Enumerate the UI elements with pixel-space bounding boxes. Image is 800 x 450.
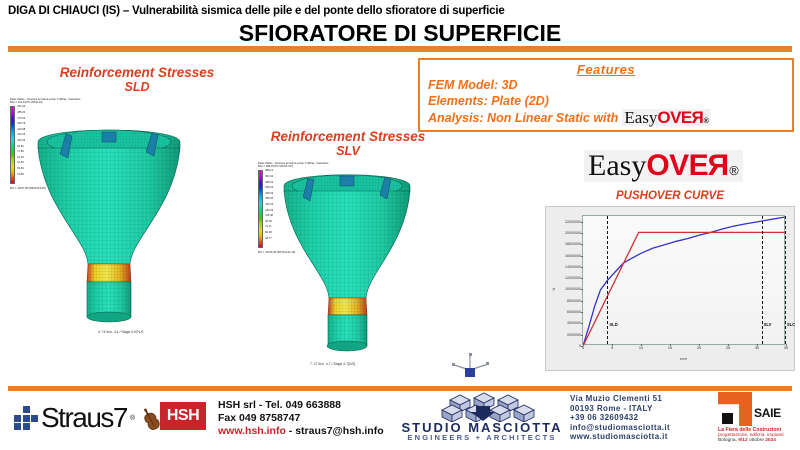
hsh-web-line: www.hsh.info - straus7@hsh.info: [218, 425, 384, 438]
fem-title-slv: Reinforcement Stresses SLV: [258, 130, 438, 158]
hsh-email-link[interactable]: straus7@hsh.info: [295, 425, 383, 437]
slide-subtitle: DIGA DI CHIAUCI (IS) – Vulnerabilità sis…: [8, 5, 505, 17]
chart-x-tick: 20: [697, 346, 701, 350]
chart-x-tick: 15: [668, 346, 672, 350]
masciotta-address-line2: 00193 Rome - ITALY: [570, 404, 670, 414]
fem-title-sld: Reinforcement Stresses SLD: [42, 66, 232, 94]
chart-y-axis-label: N: [551, 287, 556, 290]
fem-model-sld: [30, 112, 210, 327]
chart-y-tick: 4000000: [567, 321, 581, 325]
limit-state-marker-slv: [762, 216, 763, 344]
chart-x-tick: 10: [639, 346, 643, 350]
footer-divider: [8, 386, 792, 391]
hsh-contact-info: HSH srl - Tel. 049 663888 Fax 049 875874…: [218, 399, 384, 438]
feature-analysis: Analysis: Non Linear Static with EasyOVE…: [428, 109, 792, 126]
chart-y-tick: 14000000: [565, 265, 581, 269]
easyover-logo-inline: EasyOVER®: [622, 109, 710, 126]
limit-state-label-sld: SLD: [609, 322, 617, 327]
saie-wordmark: SAIE: [754, 406, 781, 420]
chart-x-tick: 35: [784, 346, 788, 350]
chart-y-tick: 12000000: [565, 276, 581, 280]
contour-color-bar: [258, 170, 263, 248]
easyover-wordmark: EasyOVER®: [584, 150, 743, 182]
chart-y-tick: 8000000: [567, 299, 581, 303]
chart-x-tick: 5: [611, 346, 613, 350]
masciotta-website-link[interactable]: www.studiomasciotta.it: [570, 432, 670, 442]
chart-y-tick: 18000000: [565, 242, 581, 246]
chart-x-tick: 30: [755, 346, 759, 350]
masciotta-tagline: ENGINEERS + ARCHITECTS: [392, 433, 572, 442]
features-title: Features: [420, 62, 792, 77]
chart-plot-area: 0200000040000006000000800000010000000120…: [582, 215, 785, 345]
fem-caption-slv: 7: 27 Incr. 4.7 / Stage 4-7[X/0]: [310, 362, 355, 366]
fem-caption-sld: 4: 74 Incr. 4.4 / Stage 4-KPL/0: [98, 330, 143, 334]
hsh-website-link[interactable]: www.hsh.info: [218, 425, 286, 437]
hsh-fax-line: Fax 049 8758747: [218, 412, 384, 425]
saie-mark-icon: SAIE: [718, 392, 768, 426]
masciotta-cubes-icon: [432, 392, 542, 422]
straus7-registered-mark: ®: [130, 415, 135, 422]
straus7-logo: Straus7 ®: [14, 404, 172, 432]
masciotta-email-link[interactable]: info@studiomasciotta.it: [570, 423, 670, 433]
chart-series-line: [583, 232, 785, 346]
feature-elements: Elements: Plate (2D): [428, 93, 792, 109]
chart-y-tick: 20000000: [565, 231, 581, 235]
straus7-squares-icon: [14, 406, 38, 430]
contour-value-list: 231.94 185.20 170.04 162.78 133.98 122.0…: [17, 104, 25, 177]
masciotta-contact-info: Via Muzio Clementi 51 00193 Rome - ITALY…: [570, 394, 670, 442]
limit-state-marker-sld: [607, 216, 608, 344]
chart-y-tick: 22000000: [565, 220, 581, 224]
chart-y-tick: 16000000: [565, 254, 581, 258]
over-wordmark: OVER: [646, 151, 729, 181]
chart-y-tick: 10000000: [565, 287, 581, 291]
fem-model-slv: [276, 158, 436, 358]
slide-root: DIGA DI CHIAUCI (IS) – Vulnerabilità sis…: [0, 0, 800, 450]
contour-color-bar: [10, 106, 15, 184]
features-box: Features FEM Model: 3D Elements: Plate (…: [418, 58, 794, 132]
chart-y-tick: 2000000: [567, 333, 581, 337]
header-divider: [8, 46, 792, 52]
pushover-curve-title: PUSHOVER CURVE: [548, 190, 792, 202]
limit-state-marker-slc: [785, 216, 786, 344]
axis-triad-icon: [448, 352, 494, 382]
limit-state-label-slc: SLC: [787, 322, 795, 327]
straus7-wordmark: Straus7: [41, 404, 127, 432]
hsh-phone-line: HSH srl - Tel. 049 663888: [218, 399, 384, 412]
masciotta-address-line1: Via Muzio Clementi 51: [570, 394, 670, 404]
pushover-chart: N mm 02000000400000060000008000000100000…: [545, 206, 795, 371]
over-wordmark: OVER: [657, 109, 703, 126]
contour-value-list: 388.21 303.32 285.02 250.04 208.39 185.0…: [265, 168, 273, 241]
hsh-logo: HSH: [160, 402, 206, 430]
limit-state-label-slv: SLV: [764, 322, 772, 327]
easyover-logo-large: EasyOVER®: [584, 150, 743, 182]
chart-y-tick: 6000000: [567, 310, 581, 314]
masciotta-phone: +39 06 32609432: [570, 413, 670, 423]
chart-y-tick: 0: [579, 344, 581, 348]
slide-title: SFIORATORE DI SUPERFICIE: [0, 20, 800, 47]
saie-event-info: Bologna, 9/12 ottobre 2024: [718, 438, 790, 443]
chart-x-tick: 25: [726, 346, 730, 350]
feature-fem-model: FEM Model: 3D: [428, 77, 792, 93]
chart-x-tick: 0: [582, 346, 584, 350]
saie-logo: SAIE La Fiera delle Costruzioni progetta…: [718, 392, 790, 443]
chart-x-axis-label: mm: [582, 356, 785, 361]
